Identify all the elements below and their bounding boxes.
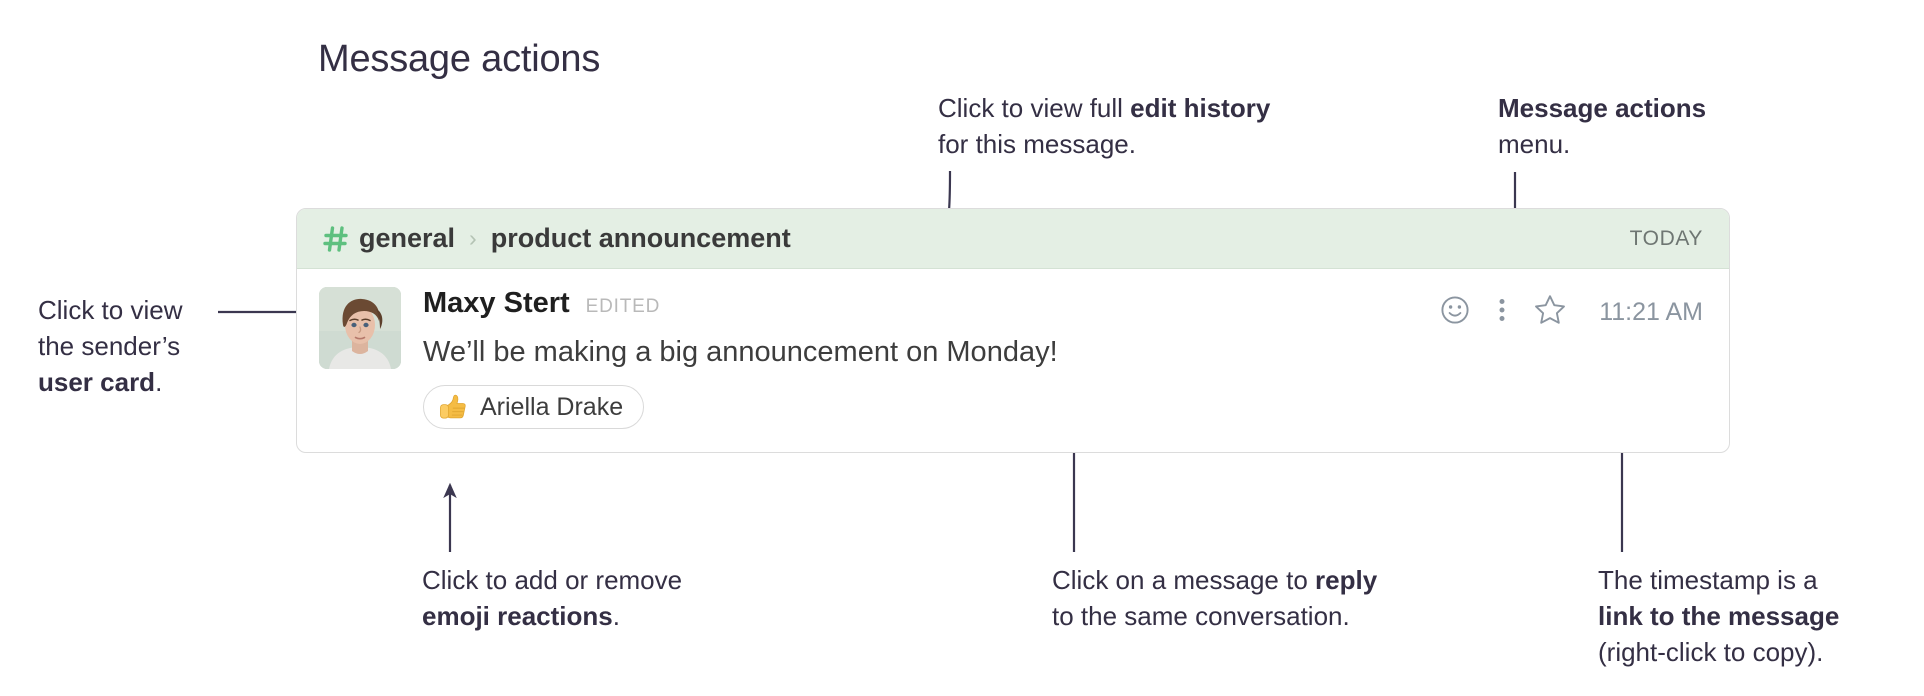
annotation-user-card-line1: Click to view [38, 292, 182, 328]
chevron-right-icon: › [469, 227, 477, 250]
edited-badge[interactable]: EDITED [586, 296, 660, 318]
timestamp-link[interactable]: 11:21 AM [1599, 298, 1703, 327]
reaction-pill[interactable]: Ariella Drake [423, 385, 644, 429]
annotation-emoji-reactions-bold: emoji reactions [422, 601, 613, 631]
annotation-edit-history-bold: edit history [1130, 93, 1270, 123]
emoji-reaction-icon[interactable] [1439, 294, 1471, 331]
annotation-user-card-line2: the sender’s [38, 328, 182, 364]
annotation-timestamp-bold: link to the message [1598, 601, 1839, 631]
annotation-edit-history-line1-pre: Click to view full [938, 93, 1130, 123]
thumbs-up-icon [438, 392, 468, 422]
reaction-row: Ariella Drake [423, 385, 1703, 429]
annotation-timestamp-line1: The timestamp is a [1598, 562, 1839, 598]
annotation-edit-history: Click to view full edit history for this… [938, 90, 1270, 162]
annotation-reply-line2: to the same conversation. [1052, 598, 1377, 634]
annotation-reply: Click on a message to reply to the same … [1052, 562, 1377, 634]
hash-icon [323, 224, 349, 254]
page-title: Message actions [318, 38, 600, 81]
annotation-reply-line1-pre: Click on a message to [1052, 565, 1315, 595]
avatar[interactable] [319, 287, 401, 369]
annotation-user-card-period: . [155, 367, 162, 397]
annotation-emoji-reactions-period: . [613, 601, 620, 631]
topic-name[interactable]: product announcement [491, 223, 791, 254]
message-body[interactable]: We’ll be making a big announcement on Mo… [423, 333, 1703, 371]
message-card: general › product announcement TODAY [296, 208, 1730, 453]
annotation-user-card-bold: user card [38, 367, 155, 397]
annotation-actions-menu-bold: Message actions [1498, 93, 1706, 123]
annotated-diagram: Message actions Click to view full edit … [0, 0, 1924, 696]
message-actions: 11:21 AM [1439, 293, 1703, 331]
annotation-emoji-reactions: Click to add or remove emoji reactions. [422, 562, 682, 634]
day-label: TODAY [1630, 227, 1703, 251]
channel-header: general › product announcement TODAY [297, 209, 1729, 269]
annotation-timestamp: The timestamp is a link to the message (… [1598, 562, 1839, 670]
message-row[interactable]: Maxy Stert EDITED We’ll be making a big … [297, 269, 1729, 429]
reaction-user-name: Ariella Drake [480, 393, 623, 422]
channel-name[interactable]: general [359, 223, 455, 254]
annotation-actions-menu-line2: menu. [1498, 126, 1706, 162]
message-actions-menu-icon[interactable] [1497, 294, 1507, 331]
sender-name[interactable]: Maxy Stert [423, 287, 570, 320]
annotation-reply-bold: reply [1315, 565, 1377, 595]
annotation-timestamp-line3: (right-click to copy). [1598, 634, 1839, 670]
annotation-user-card: Click to view the sender’s user card. [38, 292, 182, 400]
star-icon[interactable] [1533, 293, 1567, 331]
annotation-actions-menu: Message actions menu. [1498, 90, 1706, 162]
annotation-edit-history-line2: for this message. [938, 126, 1270, 162]
annotation-emoji-reactions-line1: Click to add or remove [422, 562, 682, 598]
